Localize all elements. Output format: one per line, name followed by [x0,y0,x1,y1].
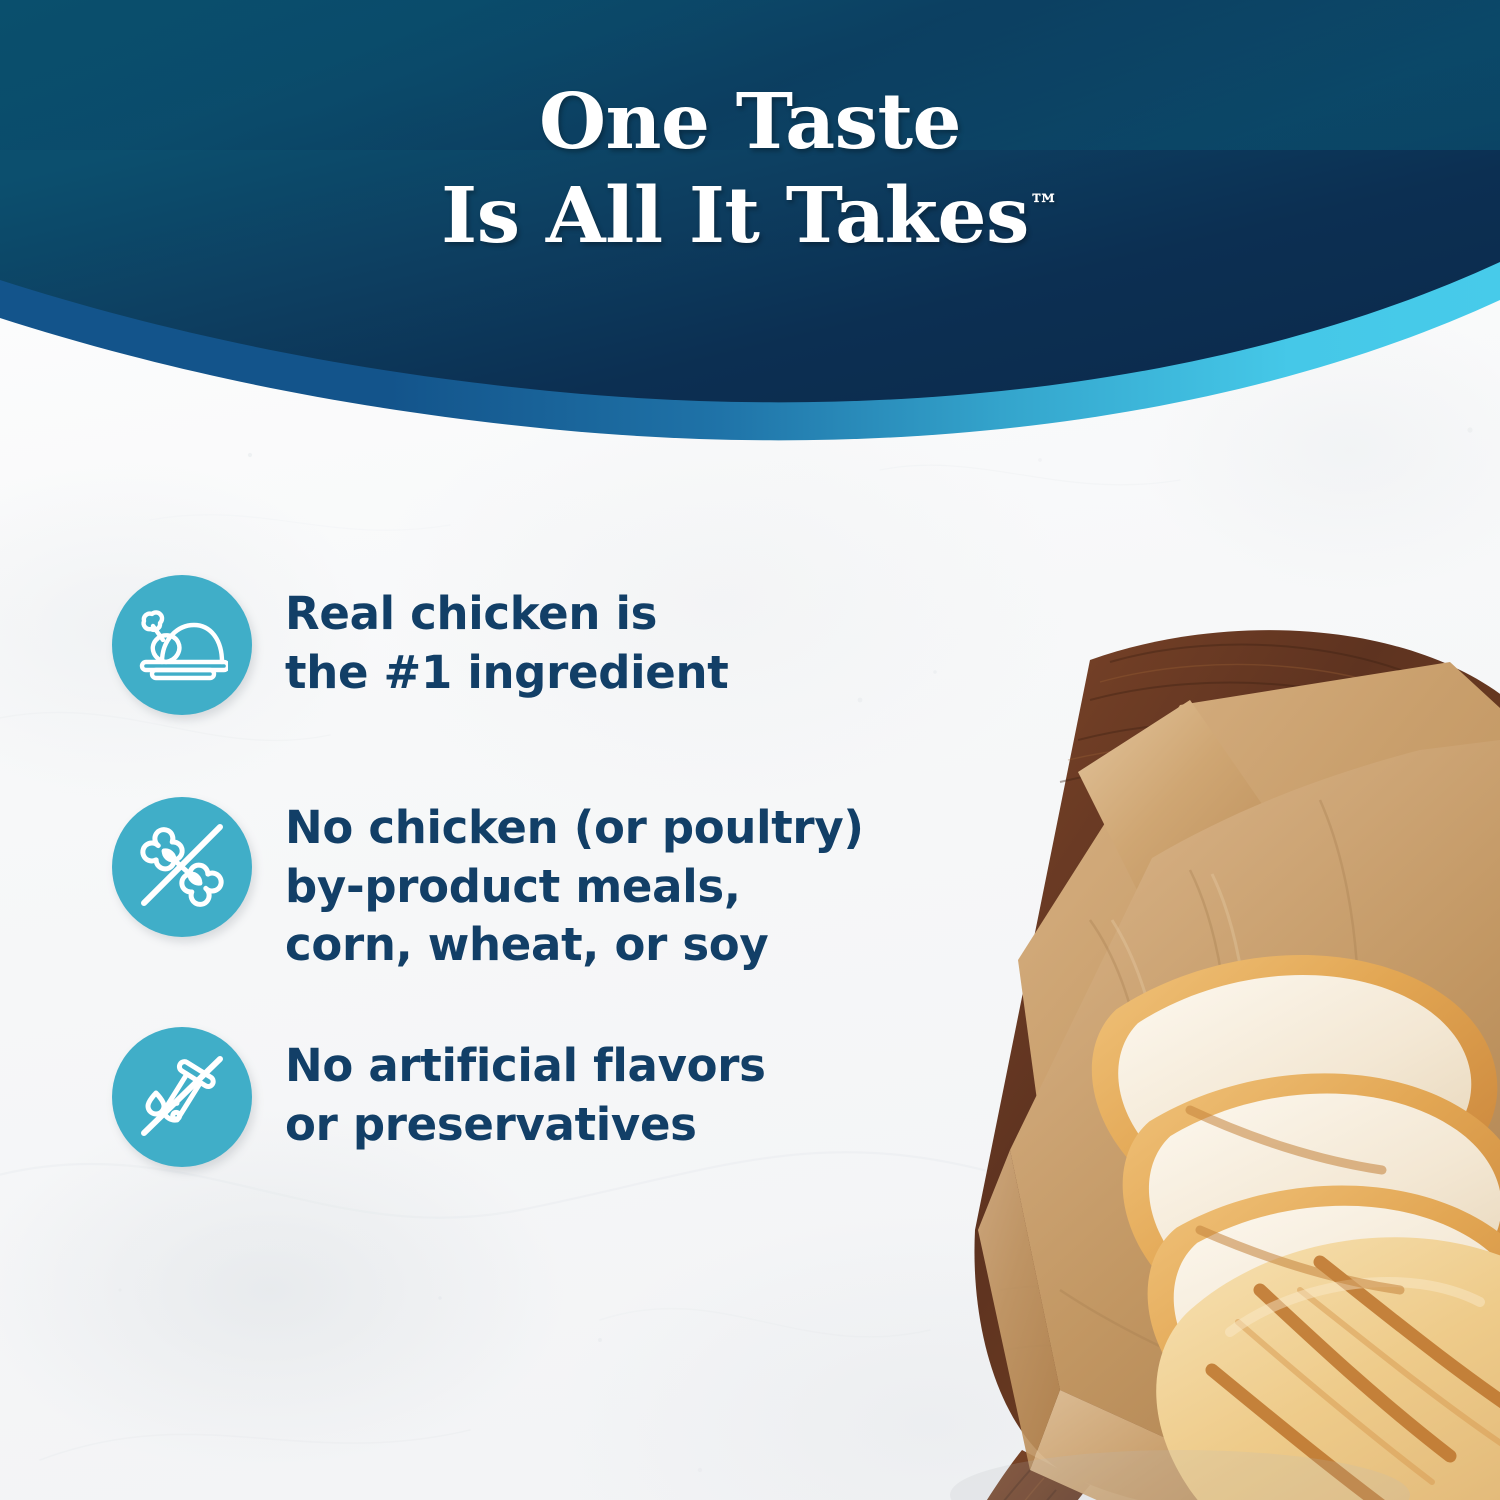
header-banner: One Taste Is All It Takes™ [0,0,1500,470]
roast-chicken-platter-icon [112,575,252,715]
benefit-item-no-byproducts: No chicken (or poultry) by-product meals… [112,797,864,975]
no-test-tube-icon [112,1027,252,1167]
benefit-item-no-artificial: No artificial flavors or preservatives [112,1027,766,1167]
no-bone-icon [112,797,252,937]
marketing-graphic: One Taste Is All It Takes™ [0,0,1500,1500]
benefit-label: Real chicken is the #1 ingredient [285,575,728,702]
benefit-label: No artificial flavors or preservatives [285,1027,766,1154]
benefit-label: No chicken (or poultry) by-product meals… [285,797,864,975]
header-curve-graphic [0,0,1500,470]
benefit-item-real-chicken: Real chicken is the #1 ingredient [112,575,728,715]
